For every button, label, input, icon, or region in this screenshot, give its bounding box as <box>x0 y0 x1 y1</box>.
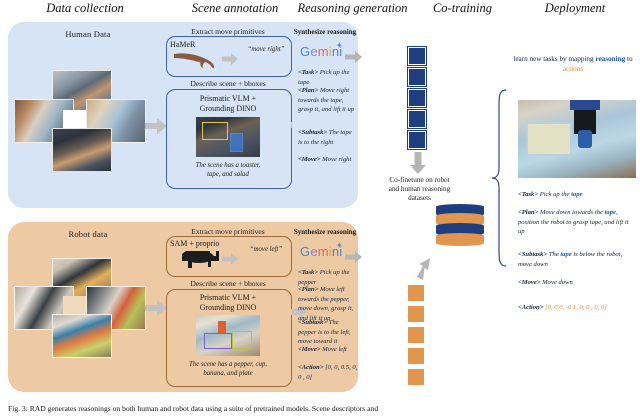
column-header-data-collection: Data collection <box>10 1 160 16</box>
deployment-action: <Action> [0, 0.0, -0.1, 0, 0 , 0, 0] <box>518 303 640 313</box>
arrow-human-collage-to-annotation <box>145 118 167 139</box>
robot-describe-heading: Describe scene + bboxes <box>163 279 293 288</box>
human-describe-model-line2: Grounding DINO <box>166 104 290 113</box>
robot-reasoning-action: <Action> [0, 0, 0.5, 0, 0 , 0] <box>298 363 360 382</box>
human-extract-model-label: HaMeR <box>170 40 226 49</box>
human-reasoning-plan: <Plan> Move right towards the tape, gras… <box>298 86 356 115</box>
robot-lane-title: Robot data <box>8 229 168 239</box>
deployment-caption: learn new tasks by mapping reasoning to … <box>512 54 634 75</box>
gemini-sparkle-icon-robot: ✦ <box>336 241 343 250</box>
collage-photo-bottom <box>52 128 112 172</box>
robot-reasoning-heading: Synthesize reasoning <box>292 228 358 236</box>
robot-scene-description-line1: The scene has a pepper, cup, <box>166 361 290 368</box>
robot-token-2 <box>408 327 424 343</box>
column-header-reasoning-generation: Reasoning generation <box>280 1 425 16</box>
arrow-robot-sam-to-output <box>222 252 238 270</box>
gripper-icon <box>180 249 220 271</box>
human-token-1 <box>408 68 426 86</box>
robot-token-4 <box>408 369 424 385</box>
human-describe-heading: Describe scene + bboxes <box>163 79 293 88</box>
hand-icon <box>172 50 220 70</box>
robot-scene-description-line2: banana, and plate <box>166 370 290 377</box>
human-scene-description-line1: The scene has a toaster, <box>166 162 290 169</box>
robot-reasoning-subtask: <Subtask> The pepper is to the left, mov… <box>298 318 358 347</box>
human-data-collage <box>14 70 144 190</box>
gemini-sparkle-icon: ✦ <box>336 41 343 50</box>
human-token-4 <box>408 131 426 149</box>
robot-token-3 <box>408 348 424 364</box>
robot-collage-photo-center <box>63 296 86 314</box>
arrow-robot-tokens-to-database <box>412 258 430 285</box>
arrow-human-gemini-to-tokens <box>345 50 362 68</box>
deployment-image <box>518 100 636 178</box>
collage-photo-center <box>63 110 86 128</box>
column-header-deployment: Deployment <box>515 1 635 16</box>
robot-reasoning-move: <Move> Move left <box>298 345 358 355</box>
human-lane-title: Human Data <box>8 29 168 39</box>
human-reasoning-task: <Task> Pick up the tape <box>298 68 356 87</box>
robot-describe-model-line2: Grounding DINO <box>166 303 290 312</box>
arrow-human-tokens-to-database <box>410 152 426 179</box>
robot-describe-model-line1: Prismatic VLM + <box>166 293 290 302</box>
human-token-2 <box>408 89 426 107</box>
cotraining-label-line3: datasets <box>372 194 467 202</box>
arrow-robot-collage-to-annotation <box>145 300 167 321</box>
human-token-0 <box>408 47 426 65</box>
robot-extract-output: “move left” <box>244 246 288 255</box>
robot-extract-heading: Extract move primitives <box>163 227 293 236</box>
human-annotated-scene-image <box>196 117 260 157</box>
robot-extract-model-label: SAM + proprio <box>170 239 244 248</box>
robot-data-collage <box>14 258 144 376</box>
arrow-robot-gemini-to-tokens <box>345 250 362 268</box>
robot-token-1 <box>408 306 424 322</box>
cotraining-label-line2: and human reasoning <box>372 185 467 193</box>
deployment-move: <Move> Move down <box>518 278 636 288</box>
human-describe-model-line1: Prismatic VLM + <box>166 94 290 103</box>
figure-caption: Fig. 3: RAD generates reasonings on both… <box>8 404 632 414</box>
column-header-co-training: Co-training <box>415 1 510 16</box>
deployment-subtask: <Subtask> The tape is below the robot, m… <box>518 250 636 269</box>
human-extract-output: “move right” <box>244 46 288 55</box>
robot-collage-photo-bottom <box>52 314 112 358</box>
robot-token-0 <box>408 285 424 301</box>
deployment-brace <box>490 88 512 268</box>
human-token-3 <box>408 110 426 128</box>
human-extract-heading: Extract move primitives <box>163 27 293 36</box>
robot-annotated-scene-image <box>196 315 260 356</box>
cotraining-label-line1: Co-finetune on robot <box>372 176 467 184</box>
arrow-human-hamer-to-output <box>222 52 238 70</box>
cotraining-database-icon <box>436 204 484 256</box>
human-reasoning-heading: Synthesize reasoning <box>292 28 358 36</box>
human-reasoning-move: <Move> Move right <box>298 155 356 165</box>
human-reasoning-subtask: <Subtask> The tape is to the right <box>298 128 356 147</box>
deployment-task: <Task> Pick up the tape <box>518 190 636 200</box>
human-scene-description-line2: tape, and salad <box>166 171 290 178</box>
deployment-plan: <Plan> Move down towards the tape, posit… <box>518 208 636 237</box>
